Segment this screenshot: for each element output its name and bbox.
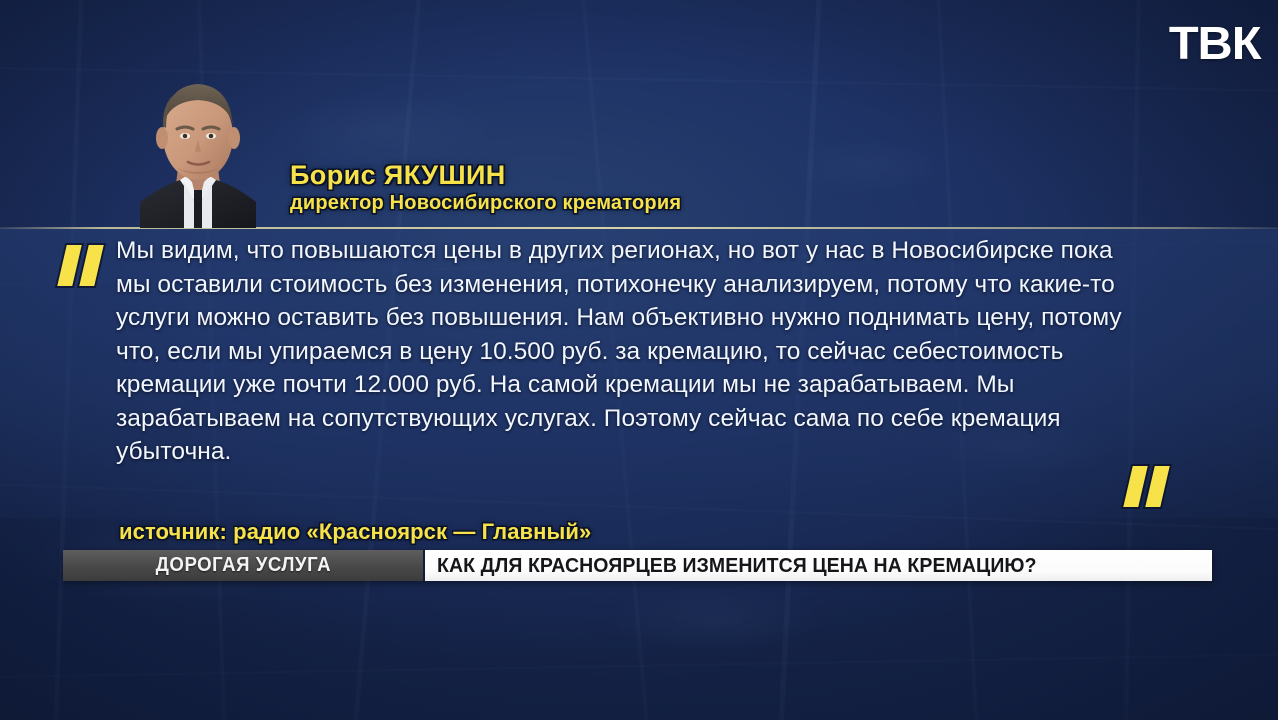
channel-logo: ТВК	[1168, 16, 1260, 70]
portrait-image	[132, 50, 264, 228]
lower-third-ticker: ДОРОГАЯ УСЛУГА КАК ДЛЯ КРАСНОЯРЦЕВ ИЗМЕН…	[63, 550, 1212, 581]
speaker-portrait	[132, 50, 264, 228]
quote-close-icon	[1128, 466, 1165, 507]
quote-open-icon	[62, 245, 99, 286]
ticker-headline: КАК ДЛЯ КРАСНОЯРЦЕВ ИЗМЕНИТСЯ ЦЕНА НА КР…	[423, 550, 1212, 581]
quote-text: Мы видим, что повышаются цены в других р…	[116, 234, 1128, 469]
broadcast-screen: ТВК	[0, 0, 1278, 720]
speaker-name: Борис ЯКУШИН	[290, 160, 1090, 190]
speaker-info: Борис ЯКУШИН директор Новосибирского кре…	[290, 160, 1090, 215]
source-attribution: источник: радио «Красноярск — Главный»	[119, 519, 591, 545]
speaker-role: директор Новосибирского крематория	[290, 192, 1090, 215]
ticker-headline-label: КАК ДЛЯ КРАСНОЯРЦЕВ ИЗМЕНИТСЯ ЦЕНА НА КР…	[437, 554, 1037, 578]
ticker-rubric: ДОРОГАЯ УСЛУГА	[63, 550, 423, 581]
ticker-rubric-label: ДОРОГАЯ УСЛУГА	[155, 554, 330, 577]
